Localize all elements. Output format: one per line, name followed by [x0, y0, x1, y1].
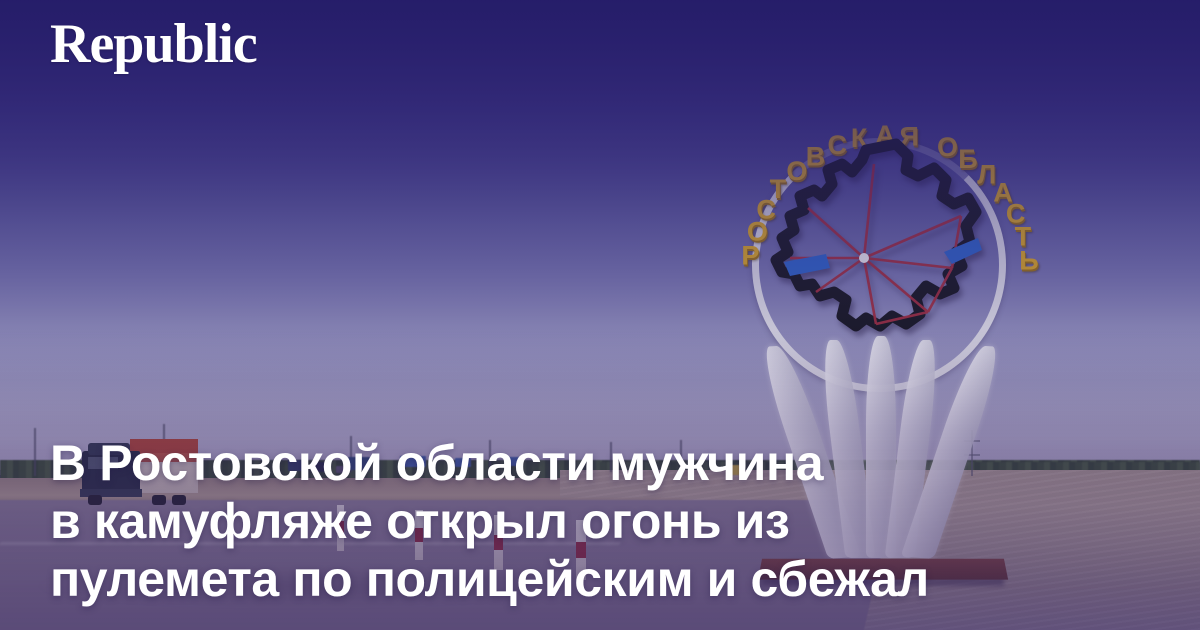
headline: В Ростовской области мужчина в камуфляже… — [50, 434, 1154, 608]
headline-line: В Ростовской области мужчина — [50, 434, 1154, 492]
utility-pole — [34, 428, 36, 476]
social-share-card: Р О С Т О В С К А Я О Б Л А С Т Ь — [0, 0, 1200, 630]
headline-line: пулемета по полицейским и сбежал — [50, 550, 1154, 608]
arc-letter: Ь — [1019, 245, 1038, 276]
republic-logo[interactable]: Republic — [50, 16, 257, 72]
region-map-outline — [756, 134, 1006, 364]
headline-line: в камуфляже открыл огонь из — [50, 492, 1154, 550]
